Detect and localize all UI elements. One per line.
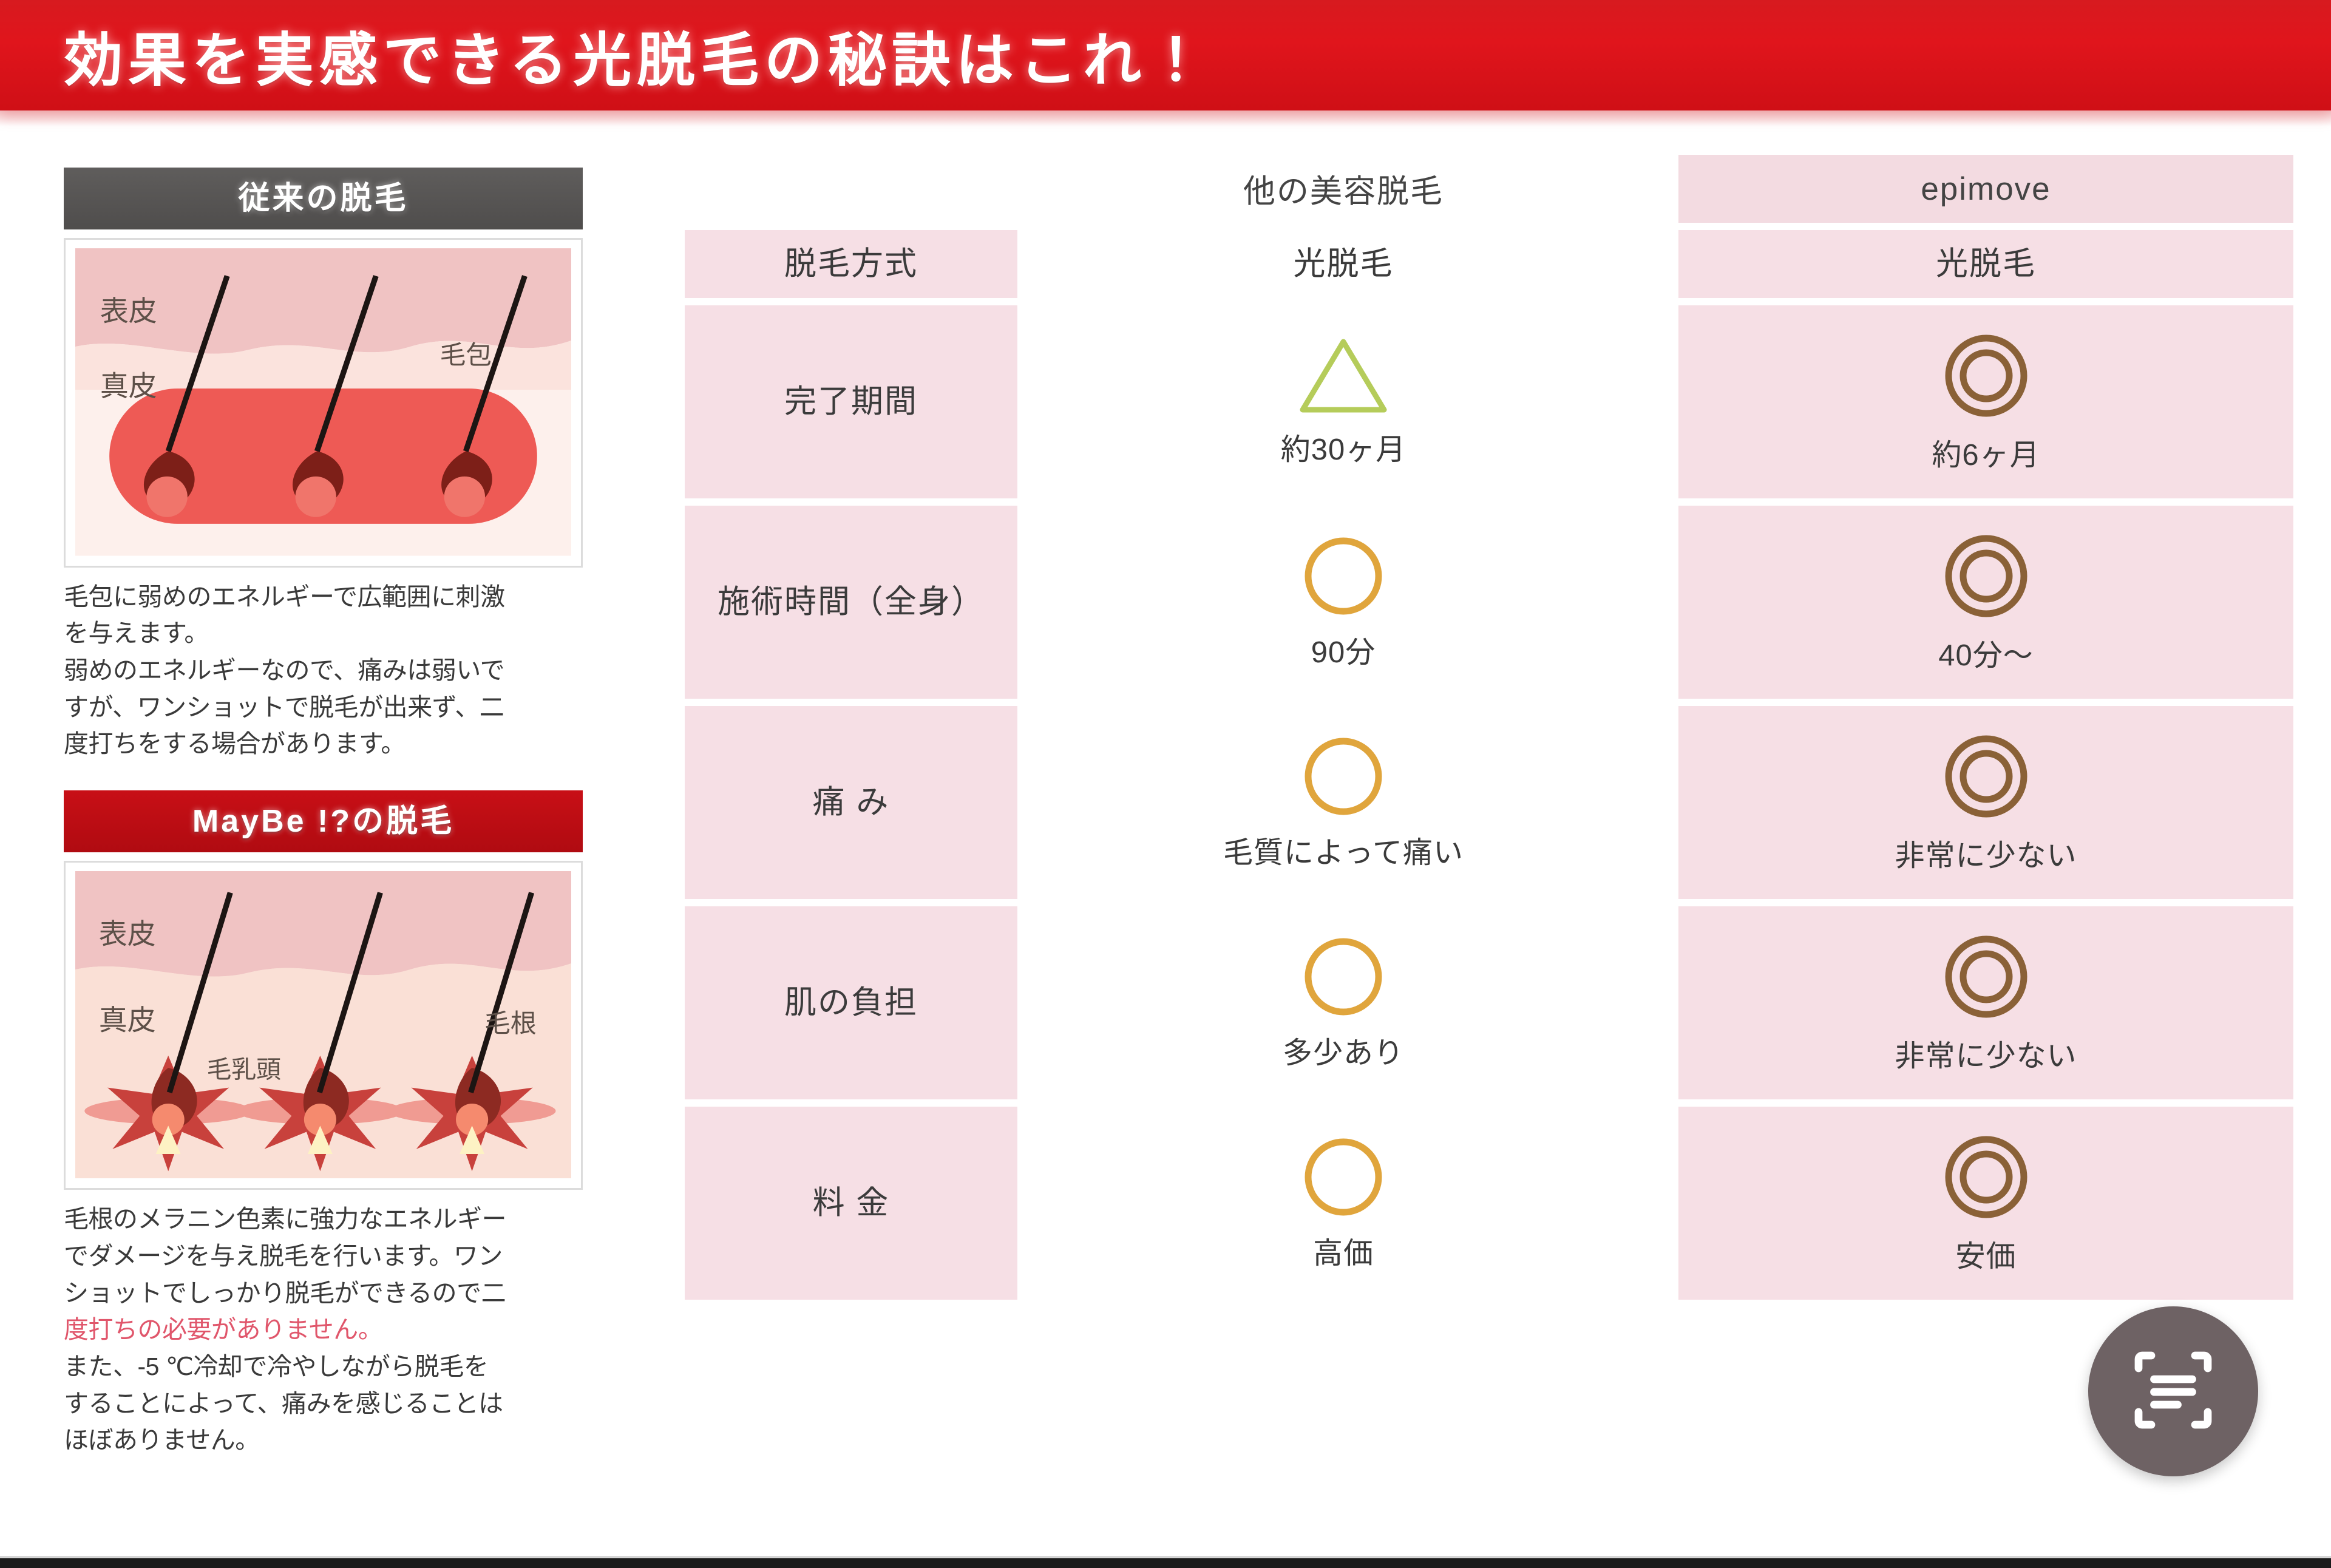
other-cell-price: 高価	[1104, 1107, 1583, 1300]
cell-value: 多少あり	[1283, 1029, 1404, 1072]
text-scan-fab[interactable]	[2088, 1306, 2258, 1476]
cell-value: 非常に少ない	[1895, 1032, 2077, 1075]
epimove-cell-session-time: 40分〜	[1678, 506, 2293, 699]
maybe-description: 毛根のメラニン色素に強力なエネルギー でダメージを与え脱毛を行います。ワン ショ…	[64, 1201, 583, 1459]
cell-value: 毛質によって痛い	[1223, 829, 1464, 872]
maybe-skin-diagram: 表皮 真皮 毛乳頭 毛根	[75, 871, 571, 1179]
description-line: ほぼありません。	[64, 1422, 583, 1459]
circle-mark-icon	[1301, 1135, 1386, 1220]
conventional-heading: 従来の脱毛	[64, 168, 583, 229]
epimove-cell-skin-burden: 非常に少ない	[1678, 906, 2293, 1099]
other-cell-skin-burden: 多少あり	[1104, 906, 1583, 1099]
double-circle-mark-icon	[1941, 1132, 2032, 1223]
label-epidermis: 表皮	[100, 296, 157, 327]
description-line: また、-5 ℃冷却で冷やしながら脱毛を	[64, 1348, 583, 1385]
epimove-cell-method: 光脱毛	[1678, 230, 2293, 298]
double-circle-mark-icon	[1941, 931, 2032, 1022]
description-line: でダメージを与え脱毛を行います。ワン	[64, 1238, 583, 1275]
criteria-cell-duration: 完了期間	[685, 305, 1017, 498]
criteria-label: 痛 み	[813, 783, 890, 822]
criteria-cell-price: 料 金	[685, 1107, 1017, 1300]
cell-value: 40分〜	[1938, 631, 2034, 674]
epimove-cell-pain: 非常に少ない	[1678, 706, 2293, 899]
cell-value: 光脱毛	[1936, 245, 2036, 283]
circle-mark-icon	[1301, 734, 1386, 819]
label-dermis: 真皮	[99, 1004, 156, 1036]
criteria-label: 料 金	[813, 1184, 890, 1223]
cell-value: 90分	[1311, 628, 1376, 671]
maybe-heading: MayBe !?の脱毛	[64, 790, 583, 852]
cell-value: 高価	[1313, 1229, 1374, 1272]
cell-value: 光脱毛	[1294, 245, 1394, 283]
description-line: 度打ちをする場合があります。	[64, 725, 583, 762]
criteria-cell-session-time: 施術時間（全身）	[685, 506, 1017, 699]
epimove-cell-price: 安価	[1678, 1107, 2293, 1300]
circle-mark-icon	[1301, 934, 1386, 1019]
comparison-criteria-column: 脱毛方式 完了期間 施術時間（全身） 痛 み 肌の負担 料 金	[685, 155, 1017, 1300]
criteria-label: 肌の負担	[784, 983, 918, 1022]
other-cell-session-time: 90分	[1104, 506, 1583, 699]
circle-mark-icon	[1301, 534, 1386, 619]
criteria-label: 完了期間	[784, 382, 918, 421]
page-header-banner: 効果を実感できる光脱毛の秘訣はこれ！	[0, 0, 2331, 110]
cell-value: 安価	[1955, 1232, 2016, 1275]
left-explainer-panel: 従来の脱毛	[64, 168, 583, 1459]
double-circle-mark-icon	[1941, 531, 2032, 622]
description-line: すが、ワンショットで脱毛が出来ず、二	[64, 689, 583, 726]
description-line-highlighted: 度打ちの必要がありません。	[64, 1311, 583, 1348]
description-line: を与えます。	[64, 615, 583, 652]
label-papilla: 毛乳頭	[207, 1055, 282, 1083]
description-line: することによって、痛みを感じることは	[64, 1385, 583, 1422]
double-circle-mark-icon	[1941, 731, 2032, 822]
label-root: 毛根	[484, 1009, 537, 1038]
criteria-cell-method: 脱毛方式	[685, 230, 1017, 298]
cell-value: 約6ヶ月	[1932, 431, 2040, 474]
label-dermis: 真皮	[100, 370, 157, 402]
maybe-diagram-box: 表皮 真皮 毛乳頭 毛根	[64, 861, 583, 1190]
conventional-diagram-box: 表皮 真皮 毛包	[64, 238, 583, 568]
conventional-description: 毛包に弱めのエネルギーで広範囲に刺激 を与えます。 弱めのエネルギーなので、痛み…	[64, 579, 583, 762]
other-column-header: 他の美容脱毛	[1104, 155, 1583, 223]
label-epidermis: 表皮	[99, 918, 156, 950]
cell-value: 非常に少ない	[1895, 832, 2077, 875]
description-line: 毛根のメラニン色素に強力なエネルギー	[64, 1201, 583, 1238]
criteria-column-header	[685, 155, 1017, 223]
text-scan-icon	[2128, 1345, 2219, 1439]
criteria-label: 脱毛方式	[784, 245, 918, 283]
comparison-table: 脱毛方式 完了期間 施術時間（全身） 痛 み 肌の負担 料 金 他の美容脱毛 光…	[685, 155, 2293, 1478]
other-cell-method: 光脱毛	[1104, 230, 1583, 298]
cell-value: 約30ヶ月	[1281, 426, 1406, 469]
banner-glow	[0, 110, 2331, 126]
other-cell-duration: 約30ヶ月	[1104, 305, 1583, 498]
criteria-label: 施術時間（全身）	[718, 583, 985, 622]
page-title: 効果を実感できる光脱毛の秘訣はこれ！	[64, 13, 1210, 98]
criteria-cell-skin-burden: 肌の負担	[685, 906, 1017, 1099]
label-follicle: 毛包	[439, 341, 492, 370]
criteria-cell-pain: 痛 み	[685, 706, 1017, 899]
other-cell-pain: 毛質によって痛い	[1104, 706, 1583, 899]
conventional-skin-diagram: 表皮 真皮 毛包	[75, 248, 571, 556]
bottom-system-bar	[0, 1558, 2331, 1568]
double-circle-mark-icon	[1941, 330, 2032, 421]
epimove-cell-duration: 約6ヶ月	[1678, 305, 2293, 498]
description-line: 弱めのエネルギーなので、痛みは弱いで	[64, 652, 583, 689]
description-line: ショットでしっかり脱毛ができるので二	[64, 1275, 583, 1312]
comparison-other-column: 他の美容脱毛 光脱毛 約30ヶ月 90分 毛質によって痛い	[1104, 155, 1583, 1300]
epimove-column-header: epimove	[1678, 155, 2293, 223]
description-line: 毛包に弱めのエネルギーで広範囲に刺激	[64, 579, 583, 616]
triangle-mark-icon	[1298, 336, 1389, 416]
comparison-epimove-column: epimove 光脱毛 約6ヶ月 40分〜	[1678, 155, 2293, 1300]
